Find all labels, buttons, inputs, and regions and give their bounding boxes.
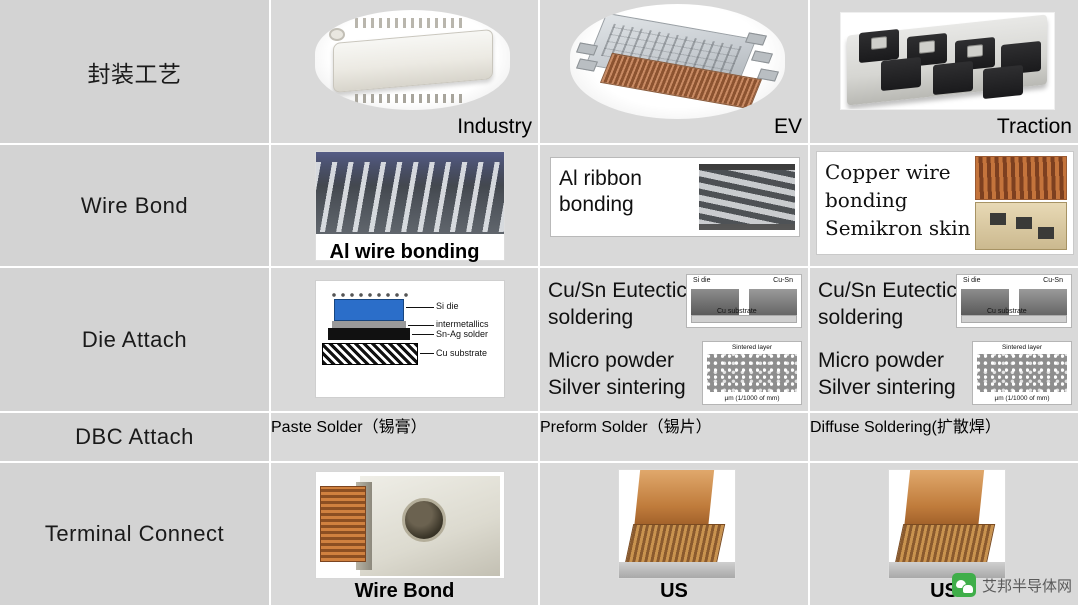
copper-wire-text: Copper wire bonding Semikron skin bbox=[825, 158, 975, 242]
cell-die-attach-eutectic-right: Cu/Sn Eutectic soldering Micro powder Si… bbox=[810, 268, 1080, 413]
watermark: 艾邦半导体网 bbox=[952, 573, 1072, 597]
copper-wire-photo-bottom bbox=[975, 202, 1067, 250]
diagram-label-sn-ag-solder: Sn-Ag solder bbox=[436, 329, 488, 339]
diagram-label-si-die: Si die bbox=[436, 301, 459, 311]
row-label-die-attach: Die Attach bbox=[0, 268, 271, 413]
caption-ev: EV bbox=[774, 115, 802, 139]
caption-terminal-us-middle: US bbox=[540, 580, 808, 603]
caption-terminal-wire-bond: Wire Bond bbox=[271, 580, 538, 603]
copper-wire-bonding-panel: Copper wire bonding Semikron skin bbox=[816, 151, 1074, 255]
process-comparison-table: 封装工艺 Industry EV bbox=[0, 0, 1080, 607]
caption-industry: Industry bbox=[457, 115, 532, 139]
ev-module-photo bbox=[570, 4, 785, 119]
cell-terminal-us-middle: US bbox=[540, 463, 810, 607]
cell-preform-solder: Preform Solder（锡片） bbox=[540, 413, 810, 463]
al-ribbon-bonding-panel: Al ribbon bonding bbox=[550, 157, 800, 237]
watermark-text: 艾邦半导体网 bbox=[982, 575, 1072, 596]
wechat-logo-icon bbox=[952, 573, 976, 597]
sintered-layer-image-right: Sintered layer μm (1/1000 of mm) bbox=[972, 341, 1072, 405]
row-label-terminal-connect: Terminal Connect bbox=[0, 463, 271, 607]
copper-wire-photo-top bbox=[975, 156, 1067, 200]
diagram-label-cu-substrate: Cu substrate bbox=[436, 348, 487, 358]
die-attach-cross-section-diagram: Si die intermetallics Sn-Ag solder Cu su… bbox=[315, 280, 505, 398]
terminal-us-photo-right bbox=[888, 469, 1006, 579]
cell-ev-module: EV bbox=[540, 0, 810, 145]
cell-paste-solder: Paste Solder（锡膏） bbox=[271, 413, 540, 463]
cell-industry-module: Industry bbox=[271, 0, 540, 145]
eutectic-sem-image-middle: Si die Cu-Sn Cu substrate bbox=[686, 274, 802, 328]
row-label-wire-bond: Wire Bond bbox=[0, 145, 271, 268]
slide-root: 封装工艺 Industry EV bbox=[0, 0, 1080, 607]
row-label-dbc-attach: DBC Attach bbox=[0, 413, 271, 463]
cell-diffuse-soldering: Diffuse Soldering(扩散焊） bbox=[810, 413, 1080, 463]
sintered-layer-image-middle: Sintered layer μm (1/1000 of mm) bbox=[702, 341, 802, 405]
diagram-label-intermetallics: intermetallics bbox=[436, 319, 489, 329]
micro-powder-text-right: Micro powder Silver sintering bbox=[818, 348, 998, 402]
industry-module-photo bbox=[315, 10, 510, 110]
al-ribbon-photo bbox=[699, 164, 795, 230]
terminal-us-photo-middle bbox=[618, 469, 736, 579]
al-ribbon-text: Al ribbon bonding bbox=[559, 166, 699, 219]
terminal-wire-bond-photo bbox=[315, 471, 505, 579]
cell-die-attach-diagram: Si die intermetallics Sn-Ag solder Cu su… bbox=[271, 268, 540, 413]
row-label-packaging-process: 封装工艺 bbox=[0, 0, 271, 145]
eutectic-sem-image-right: Si die Cu-Sn Cu substrate bbox=[956, 274, 1072, 328]
cell-al-ribbon-bonding: Al ribbon bonding bbox=[540, 145, 810, 268]
cell-die-attach-eutectic-middle: Cu/Sn Eutectic soldering Micro powder Si… bbox=[540, 268, 810, 413]
caption-al-wire-bonding: Al wire bonding bbox=[271, 241, 538, 264]
micro-powder-text-middle: Micro powder Silver sintering bbox=[548, 348, 728, 402]
traction-module-photo bbox=[840, 12, 1055, 110]
cell-terminal-wire-bond: Wire Bond bbox=[271, 463, 540, 607]
cell-traction-module: Traction bbox=[810, 0, 1080, 145]
cell-copper-wire-bonding: Copper wire bonding Semikron skin bbox=[810, 145, 1080, 268]
caption-traction: Traction bbox=[997, 115, 1072, 139]
cell-al-wire-bonding: Al wire bonding bbox=[271, 145, 540, 268]
